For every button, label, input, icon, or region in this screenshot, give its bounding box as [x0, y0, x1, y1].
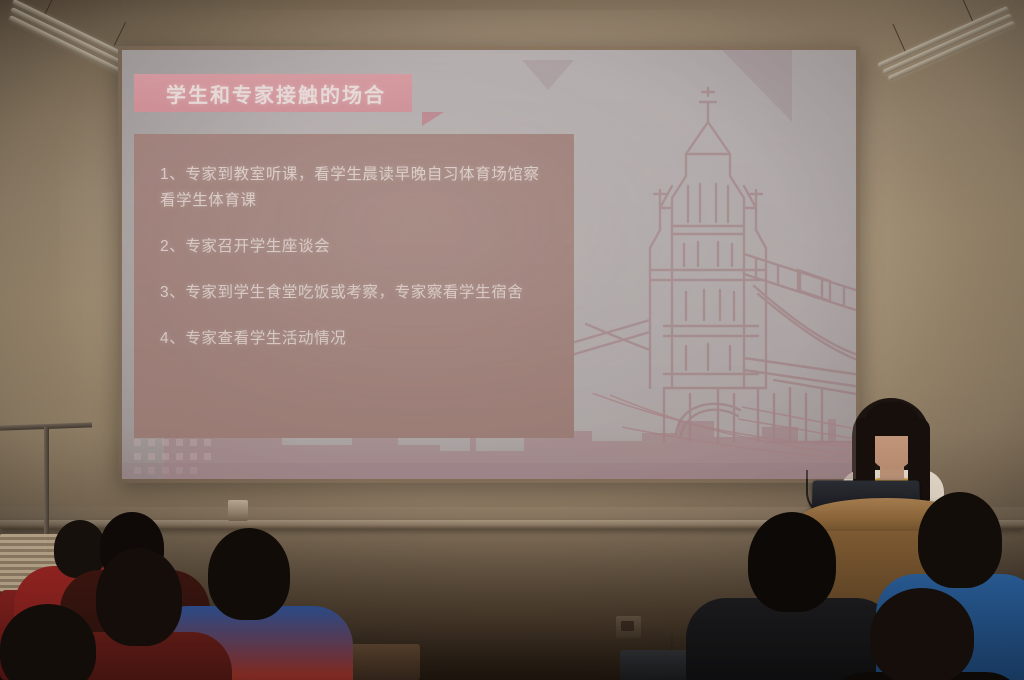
audience-corner-left	[0, 604, 120, 680]
audience-foreground-right	[846, 588, 1006, 680]
projected-slide: 学生和专家接触的场合 1、专家到教室听课，看学生晨读早晚自习体育场馆察看学生体育…	[122, 50, 856, 479]
chalk-box	[228, 500, 248, 521]
slide-title: 学生和专家接触的场合	[166, 79, 386, 108]
slide-bullet-3: 3、专家到学生食堂吃饭或考察，专家察看学生宿舍	[160, 280, 548, 306]
ribbon-fold-decor	[422, 112, 444, 126]
slide-bullet-1: 1、专家到教室听课，看学生晨读早晚自习体育场馆察看学生体育课	[160, 162, 548, 214]
audience-black-puffer	[700, 512, 870, 680]
slide-body-box: 1、专家到教室听课，看学生晨读早晚自习体育场馆察看学生体育课 2、专家召开学生座…	[134, 134, 574, 438]
slide-bullet-4: 4、专家查看学生活动情况	[160, 326, 548, 352]
slide-bullet-2: 2、专家召开学生座谈会	[160, 234, 548, 260]
decor-triangle-a	[522, 60, 574, 90]
classroom-scene: 学生和专家接触的场合 1、专家到教室听课，看学生晨读早晚自习体育场馆察看学生体育…	[0, 0, 1024, 680]
slide-title-ribbon: 学生和专家接触的场合	[134, 74, 412, 112]
